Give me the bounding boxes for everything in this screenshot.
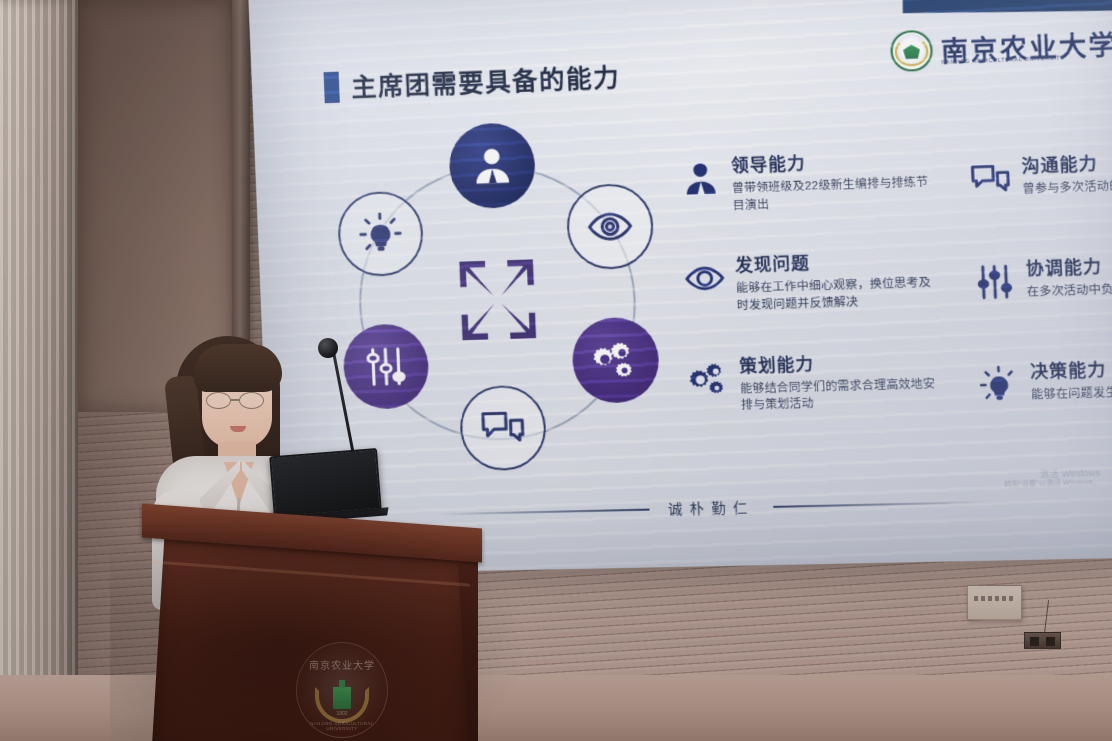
ability-item: 策划能力 能够结合同学们的需求合理高效地安排与策划活动 — [681, 346, 943, 416]
emblem-tower — [333, 687, 351, 709]
microphone — [318, 338, 358, 468]
hair-front — [194, 344, 282, 392]
ability-title: 发现问题 — [735, 245, 938, 277]
lightbulb-icon — [977, 364, 1021, 406]
subheading-bar-marker — [323, 71, 339, 103]
eye-icon — [586, 203, 635, 251]
person-icon — [679, 158, 722, 200]
sliders-icon — [973, 261, 1017, 303]
ability-circle-diagram — [314, 123, 684, 487]
lightbulb-icon — [356, 210, 404, 258]
microphone-head — [318, 338, 338, 358]
speech-bubbles-icon — [479, 404, 528, 452]
ability-description: 曾参与多次活动的举办，能够与同学之间进行有效沟通 — [1022, 176, 1112, 199]
lecture-hall-photo: » 3.职位认知 南京农业大学 NANJING AGRICULTURAL UNI… — [0, 0, 1112, 741]
ability-item: 协调能力 在多次活动中负责协调工作，结合双方意见做出皆能满意的决定 — [966, 249, 1112, 315]
slide-subheading: 主席团需要具备的能力 — [323, 58, 621, 105]
ability-item: 领导能力 曾带领班级及22级新生编排与排练节目演出 — [673, 144, 935, 216]
subheading-text: 主席团需要具备的能力 — [351, 58, 621, 104]
gears-icon — [591, 336, 640, 384]
socket-slot-left — [1030, 637, 1039, 646]
glasses-bridge — [231, 399, 239, 401]
emblem-year: 1902 — [297, 711, 387, 717]
ability-description: 曾带领班级及22级新生编排与排练节目演出 — [732, 174, 935, 215]
footer-motto: 诚朴勤仁 — [668, 497, 755, 519]
column-flutes — [0, 0, 78, 741]
emblem-name-cn: 南京农业大学 — [297, 657, 387, 672]
glasses-lens-left — [206, 392, 231, 409]
ability-item: 沟通能力 曾参与多次活动的举办，能够与同学之间进行有效沟通 — [962, 146, 1112, 213]
ability-title: 策划能力 — [739, 346, 942, 377]
podium-university-emblem: 南京农业大学 1902 NANJING AGRICULTURAL UNIVERS… — [296, 642, 388, 738]
university-logo: 南京农业大学 NANJING AGRICULTURAL UNIVERSITY — [889, 13, 1112, 81]
abilities-column-middle: 领导能力 曾带领班级及22级新生编排与排练节目演出 发现问题 能够在工作中细心观… — [673, 144, 945, 453]
wall-plaque-text — [974, 596, 1015, 601]
four-arrows-expand-icon — [454, 257, 541, 342]
ability-title: 沟通能力 — [1021, 146, 1112, 177]
emblem-name-en: NANJING AGRICULTURAL UNIVERSITY — [297, 721, 387, 731]
wall-plaque-sign — [967, 585, 1022, 620]
header-band-accent — [902, 0, 1112, 13]
footer-rule-left — [435, 509, 649, 516]
glasses-icon — [206, 392, 270, 409]
ability-title: 决策能力 — [1030, 353, 1112, 383]
ability-item: 决策能力 能够在问题发生时自主权衡利弊及时做出决策 — [971, 353, 1112, 419]
ability-description: 能够在工作中细心观察，换位思考及时发现问题并反馈解决 — [736, 275, 939, 315]
ability-item: 发现问题 能够在工作中细心观察，换位思考及时发现问题并反馈解决 — [677, 245, 939, 316]
glasses-lens-right — [239, 392, 264, 409]
footer-rule-right — [773, 501, 992, 508]
socket-slot-right — [1046, 637, 1055, 646]
wall-power-socket — [1024, 632, 1061, 649]
university-seal-icon — [890, 30, 934, 73]
speech-bubbles-icon — [969, 158, 1013, 200]
eye-icon — [683, 258, 726, 300]
person-icon — [468, 142, 517, 190]
ability-description: 在多次活动中负责协调工作，结合双方意见做出皆能满意的决定 — [1027, 279, 1112, 301]
ability-description: 能够结合同学们的需求合理高效地安排与策划活动 — [740, 376, 943, 415]
abilities-column-right: 沟通能力 曾参与多次活动的举办，能够与同学之间进行有效沟通 — [962, 146, 1112, 461]
gears-icon — [687, 358, 730, 400]
center-expand-arrows — [454, 257, 541, 342]
ability-description: 能够在问题发生时自主权衡利弊及时做出决策 — [1031, 383, 1112, 404]
podium: 南京农业大学 1902 NANJING AGRICULTURAL UNIVERS… — [142, 516, 482, 741]
wall-column-left — [0, 0, 78, 741]
ability-title: 协调能力 — [1025, 249, 1112, 280]
ability-title: 领导能力 — [730, 144, 933, 176]
sliders-icon — [362, 343, 410, 390]
laptop-screen — [269, 448, 382, 518]
